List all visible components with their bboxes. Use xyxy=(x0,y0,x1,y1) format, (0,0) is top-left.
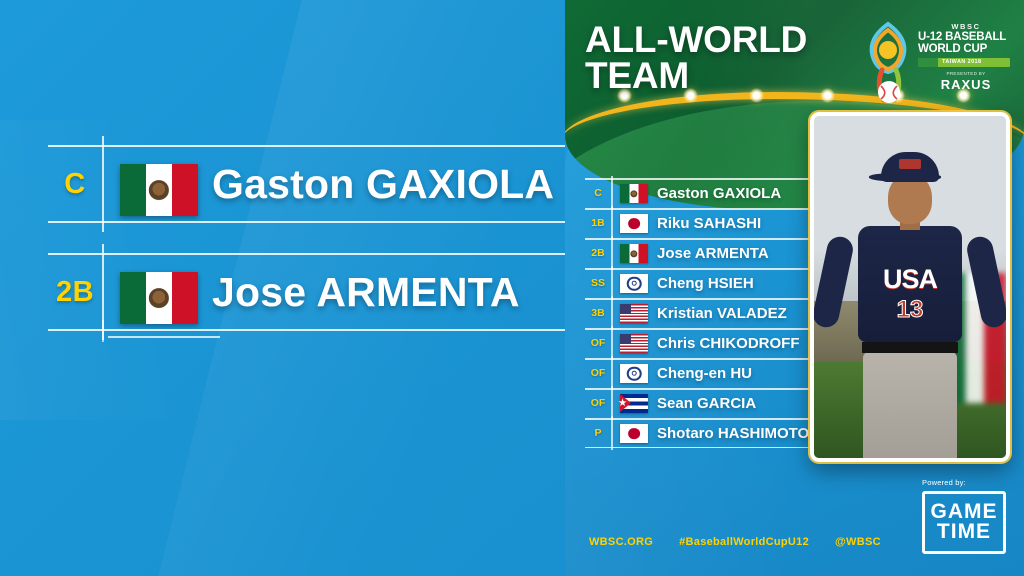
position-label: 2B xyxy=(585,238,611,268)
wbsc-logo-text: WBSC U-12 BASEBALL WORLD CUP TAIWAN 2018… xyxy=(918,22,1014,92)
list-item: 1B Riku SAHASHI xyxy=(573,208,831,238)
row-vertical-divider xyxy=(611,386,613,420)
page-title: ALL-WORLD TEAM xyxy=(585,22,865,95)
position-label: C xyxy=(585,178,611,208)
position-label: OF xyxy=(585,328,611,358)
flag-chinese-taipei-icon xyxy=(620,274,648,293)
row-vertical-divider xyxy=(611,356,613,390)
flag-mexico-icon xyxy=(620,184,648,203)
footer-handle[interactable]: @WBSC xyxy=(835,536,881,548)
row-vertical-divider xyxy=(611,266,613,300)
wbsc-event-logo: WBSC U-12 BASEBALL WORLD CUP TAIWAN 2018… xyxy=(862,18,1012,110)
list-item: P Shotaro HASHIMOTO xyxy=(573,418,831,448)
player-name: Jose ARMENTA xyxy=(657,238,769,268)
gametime-logo-box: GAME TIME xyxy=(922,491,1006,554)
list-item: SS Cheng HSIEH xyxy=(573,268,831,298)
wbsc-host-text: TAIWAN 2018 xyxy=(942,59,981,65)
player-name: Gaston GAXIOLA xyxy=(657,178,781,208)
list-item: OF ★ Sean GARCIA xyxy=(573,388,831,418)
player-name: Cheng-en HU xyxy=(657,358,752,388)
list-item: OF Cheng-en HU xyxy=(573,358,831,388)
player-name: Kristian VALADEZ xyxy=(657,298,787,328)
featured-player-photo-card: USA 13 xyxy=(810,112,1010,462)
featured-player-name: Gaston GAXIOLA xyxy=(212,145,554,223)
broadcast-lower-third-panel: C Gaston GAXIOLA 2B Jose ARMENTA xyxy=(0,0,565,576)
list-item: 3B Kristian VALADEZ xyxy=(573,298,831,328)
flag-mexico-icon xyxy=(620,244,648,263)
sponsor-raxus-label: RAXUS xyxy=(918,77,1014,92)
position-label: OF xyxy=(585,388,611,418)
presented-by-label: PRESENTED BY xyxy=(918,71,1014,76)
wbsc-org-label: WBSC xyxy=(918,22,1014,31)
position-label: 3B xyxy=(585,298,611,328)
position-label: 1B xyxy=(585,208,611,238)
player-belt xyxy=(862,342,958,353)
trailing-vertical-rule xyxy=(102,320,104,342)
flag-chinese-taipei-icon xyxy=(620,364,648,383)
row-vertical-divider xyxy=(611,416,613,450)
list-item: OF Chris CHIKODROFF xyxy=(573,328,831,358)
featured-position-label: C xyxy=(48,145,102,223)
jersey-number: 13 xyxy=(897,296,924,324)
flag-cuba-icon: ★ xyxy=(620,394,648,413)
title-line-2: TEAM xyxy=(585,58,865,94)
featured-player-row: 2B Jose ARMENTA xyxy=(0,253,565,331)
row-vertical-rule xyxy=(102,136,104,232)
wbsc-event-line-1: U-12 BASEBALL xyxy=(918,31,1014,43)
player-name: Shotaro HASHIMOTO xyxy=(657,418,809,448)
row-vertical-divider xyxy=(611,326,613,360)
player-name: Riku SAHASHI xyxy=(657,208,761,238)
row-vertical-divider xyxy=(611,176,613,210)
featured-player-name: Jose ARMENTA xyxy=(212,253,520,331)
cap-logo-icon xyxy=(899,159,921,169)
flag-usa-icon xyxy=(620,304,648,323)
trailing-rule xyxy=(108,336,220,338)
row-rule-bottom xyxy=(48,329,565,331)
position-label: SS xyxy=(585,268,611,298)
row-rule-bottom xyxy=(48,221,565,223)
wbsc-flame-mark-icon xyxy=(862,20,914,106)
flag-usa-icon xyxy=(620,334,648,353)
player-name: Chris CHIKODROFF xyxy=(657,328,800,358)
powered-by-label: Powered by: xyxy=(922,478,1006,487)
flag-japan-icon xyxy=(620,424,648,443)
wbsc-event-line-2: WORLD CUP xyxy=(918,43,1014,55)
player-name: Sean GARCIA xyxy=(657,388,756,418)
list-item: 2B Jose ARMENTA xyxy=(573,238,831,268)
flag-japan-icon xyxy=(620,214,648,233)
wbsc-host-badge: TAIWAN 2018 xyxy=(918,58,1010,67)
featured-position-label: 2B xyxy=(48,253,102,331)
row-vertical-divider xyxy=(611,206,613,240)
jersey-wordmark: USA xyxy=(883,264,937,295)
all-world-team-list: C Gaston GAXIOLA 1B Riku SAHASHI 2B Jose… xyxy=(573,178,831,448)
footer-hashtag[interactable]: #BaseballWorldCupU12 xyxy=(679,536,809,548)
footer-website[interactable]: WBSC.ORG xyxy=(589,536,653,548)
title-line-1: ALL-WORLD xyxy=(585,22,865,58)
flag-mexico-icon xyxy=(120,164,198,216)
gametime-line-2: TIME xyxy=(929,522,999,542)
footer-links: WBSC.ORG #BaseballWorldCupU12 @WBSC xyxy=(589,536,881,548)
position-label: P xyxy=(585,418,611,448)
row-vertical-divider xyxy=(611,236,613,270)
row-vertical-divider xyxy=(611,296,613,330)
player-name: Cheng HSIEH xyxy=(657,268,754,298)
flag-mexico-icon xyxy=(120,272,198,324)
featured-player-row: C Gaston GAXIOLA xyxy=(0,145,565,223)
position-label: OF xyxy=(585,358,611,388)
player-pants xyxy=(863,352,957,462)
gametime-line-1: GAME xyxy=(929,502,999,522)
list-item: C Gaston GAXIOLA xyxy=(573,178,831,208)
partner-logo-gametime: Powered by: GAME TIME xyxy=(922,478,1006,554)
